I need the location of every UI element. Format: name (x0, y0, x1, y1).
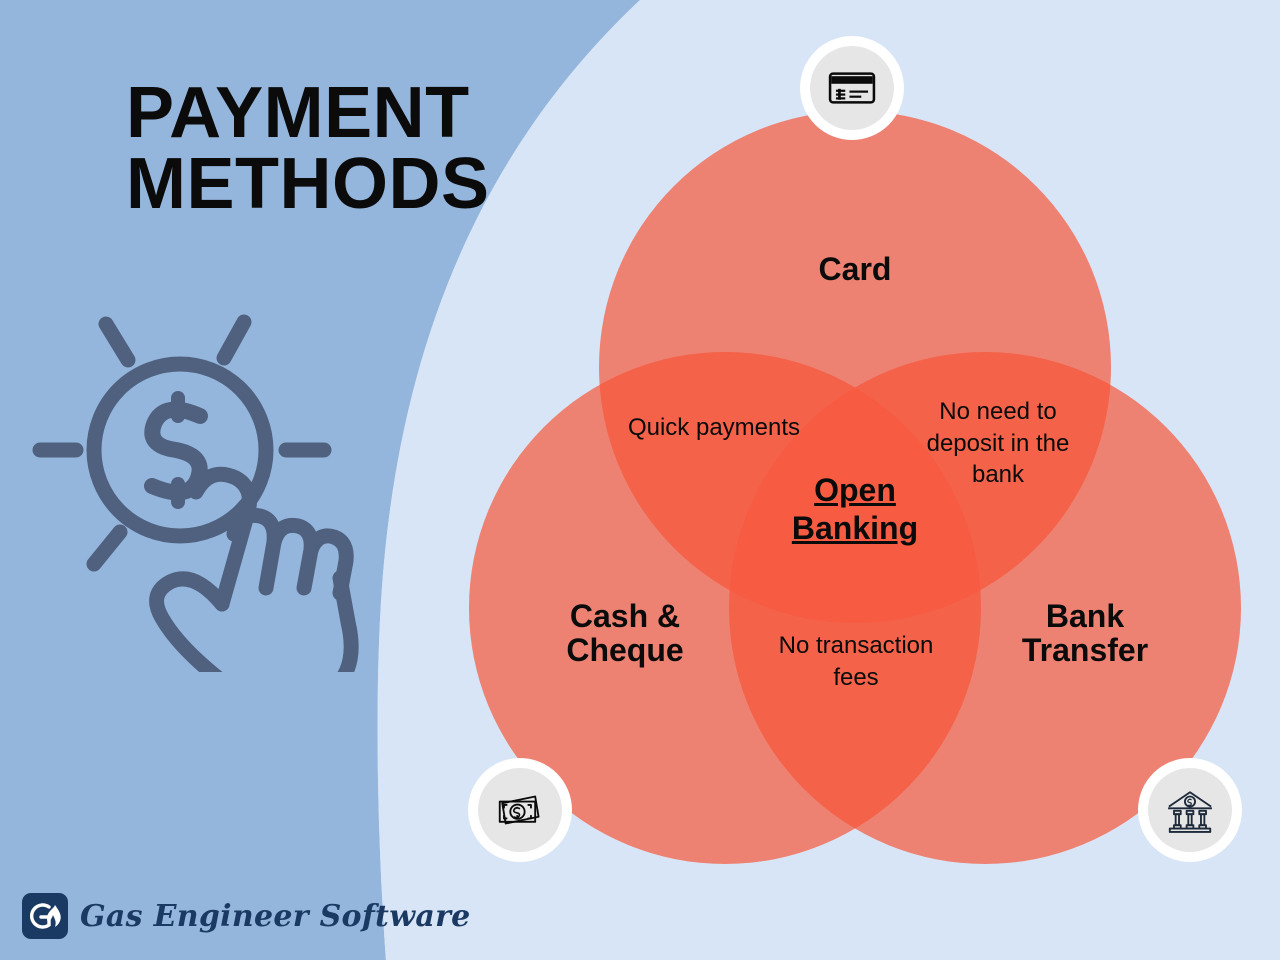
badge-card[interactable] (800, 36, 904, 140)
infographic-canvas: PAYMENT METHODS (0, 0, 1280, 960)
col1-shaft (1176, 814, 1179, 825)
credit-card-icon (825, 61, 879, 115)
corner-br (528, 815, 531, 818)
corner-tl (504, 805, 507, 808)
col2-shaft (1188, 814, 1191, 825)
bank-building-icon (1163, 783, 1217, 837)
badge-card-inner (810, 46, 894, 130)
venn-note-card-cash: Quick payments (608, 412, 820, 444)
col3-shaft (1201, 814, 1204, 825)
corner-bl (504, 815, 507, 818)
banknote-back (502, 797, 538, 824)
venn-center-line2: Banking (720, 510, 990, 548)
badge-cash-inner (478, 768, 562, 852)
badge-bank[interactable] (1138, 758, 1242, 862)
banknotes-icon (493, 783, 547, 837)
venn-note-cash-bank: No transaction fees (760, 630, 952, 693)
badge-bank-inner (1148, 768, 1232, 852)
badge-cash[interactable] (468, 758, 572, 862)
venn-note-card-bank: No need to deposit in the bank (900, 396, 1096, 491)
corner-tr (528, 805, 531, 808)
bank-plinth (1170, 829, 1211, 832)
